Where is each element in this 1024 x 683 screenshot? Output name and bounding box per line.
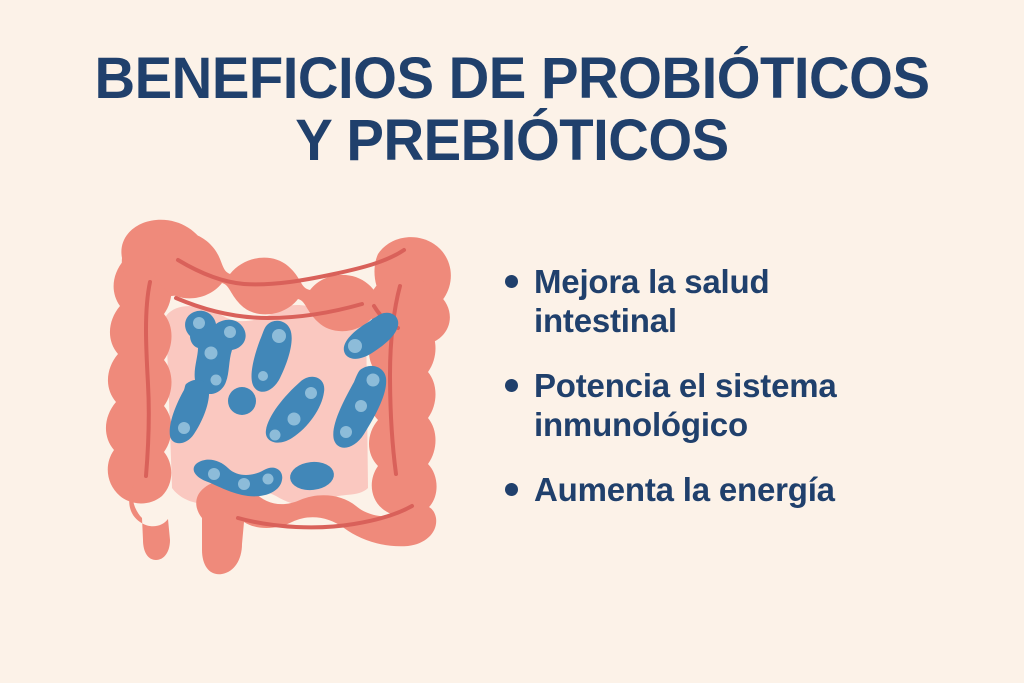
title-line-1: BENEFICIOS DE PROBIÓTICOS (15, 48, 1008, 110)
benefit-text-1: Mejora la salud intestinal (534, 262, 904, 340)
bullet-dot-icon (505, 379, 518, 392)
page-title: BENEFICIOS DE PROBIÓTICOS Y PREBIÓTICOS (0, 48, 1024, 172)
benefit-text-3: Aumenta la energía (534, 470, 835, 509)
bullet-dot-icon (505, 275, 518, 288)
benefit-item-3: Aumenta la energía (505, 470, 935, 509)
benefit-text-2: Potencia el sistema inmunológico (534, 366, 904, 444)
title-line-2: Y PREBIÓTICOS (15, 110, 1008, 172)
infographic-canvas: BENEFICIOS DE PROBIÓTICOS Y PREBIÓTICOS (0, 0, 1024, 683)
benefit-item-2: Potencia el sistema inmunológico (505, 366, 935, 444)
bacterium-coccus (228, 387, 256, 415)
intestine-illustration (78, 188, 458, 578)
benefit-item-1: Mejora la salud intestinal (505, 262, 935, 340)
bullet-dot-icon (505, 483, 518, 496)
benefits-list: Mejora la salud intestinal Potencia el s… (505, 262, 935, 509)
